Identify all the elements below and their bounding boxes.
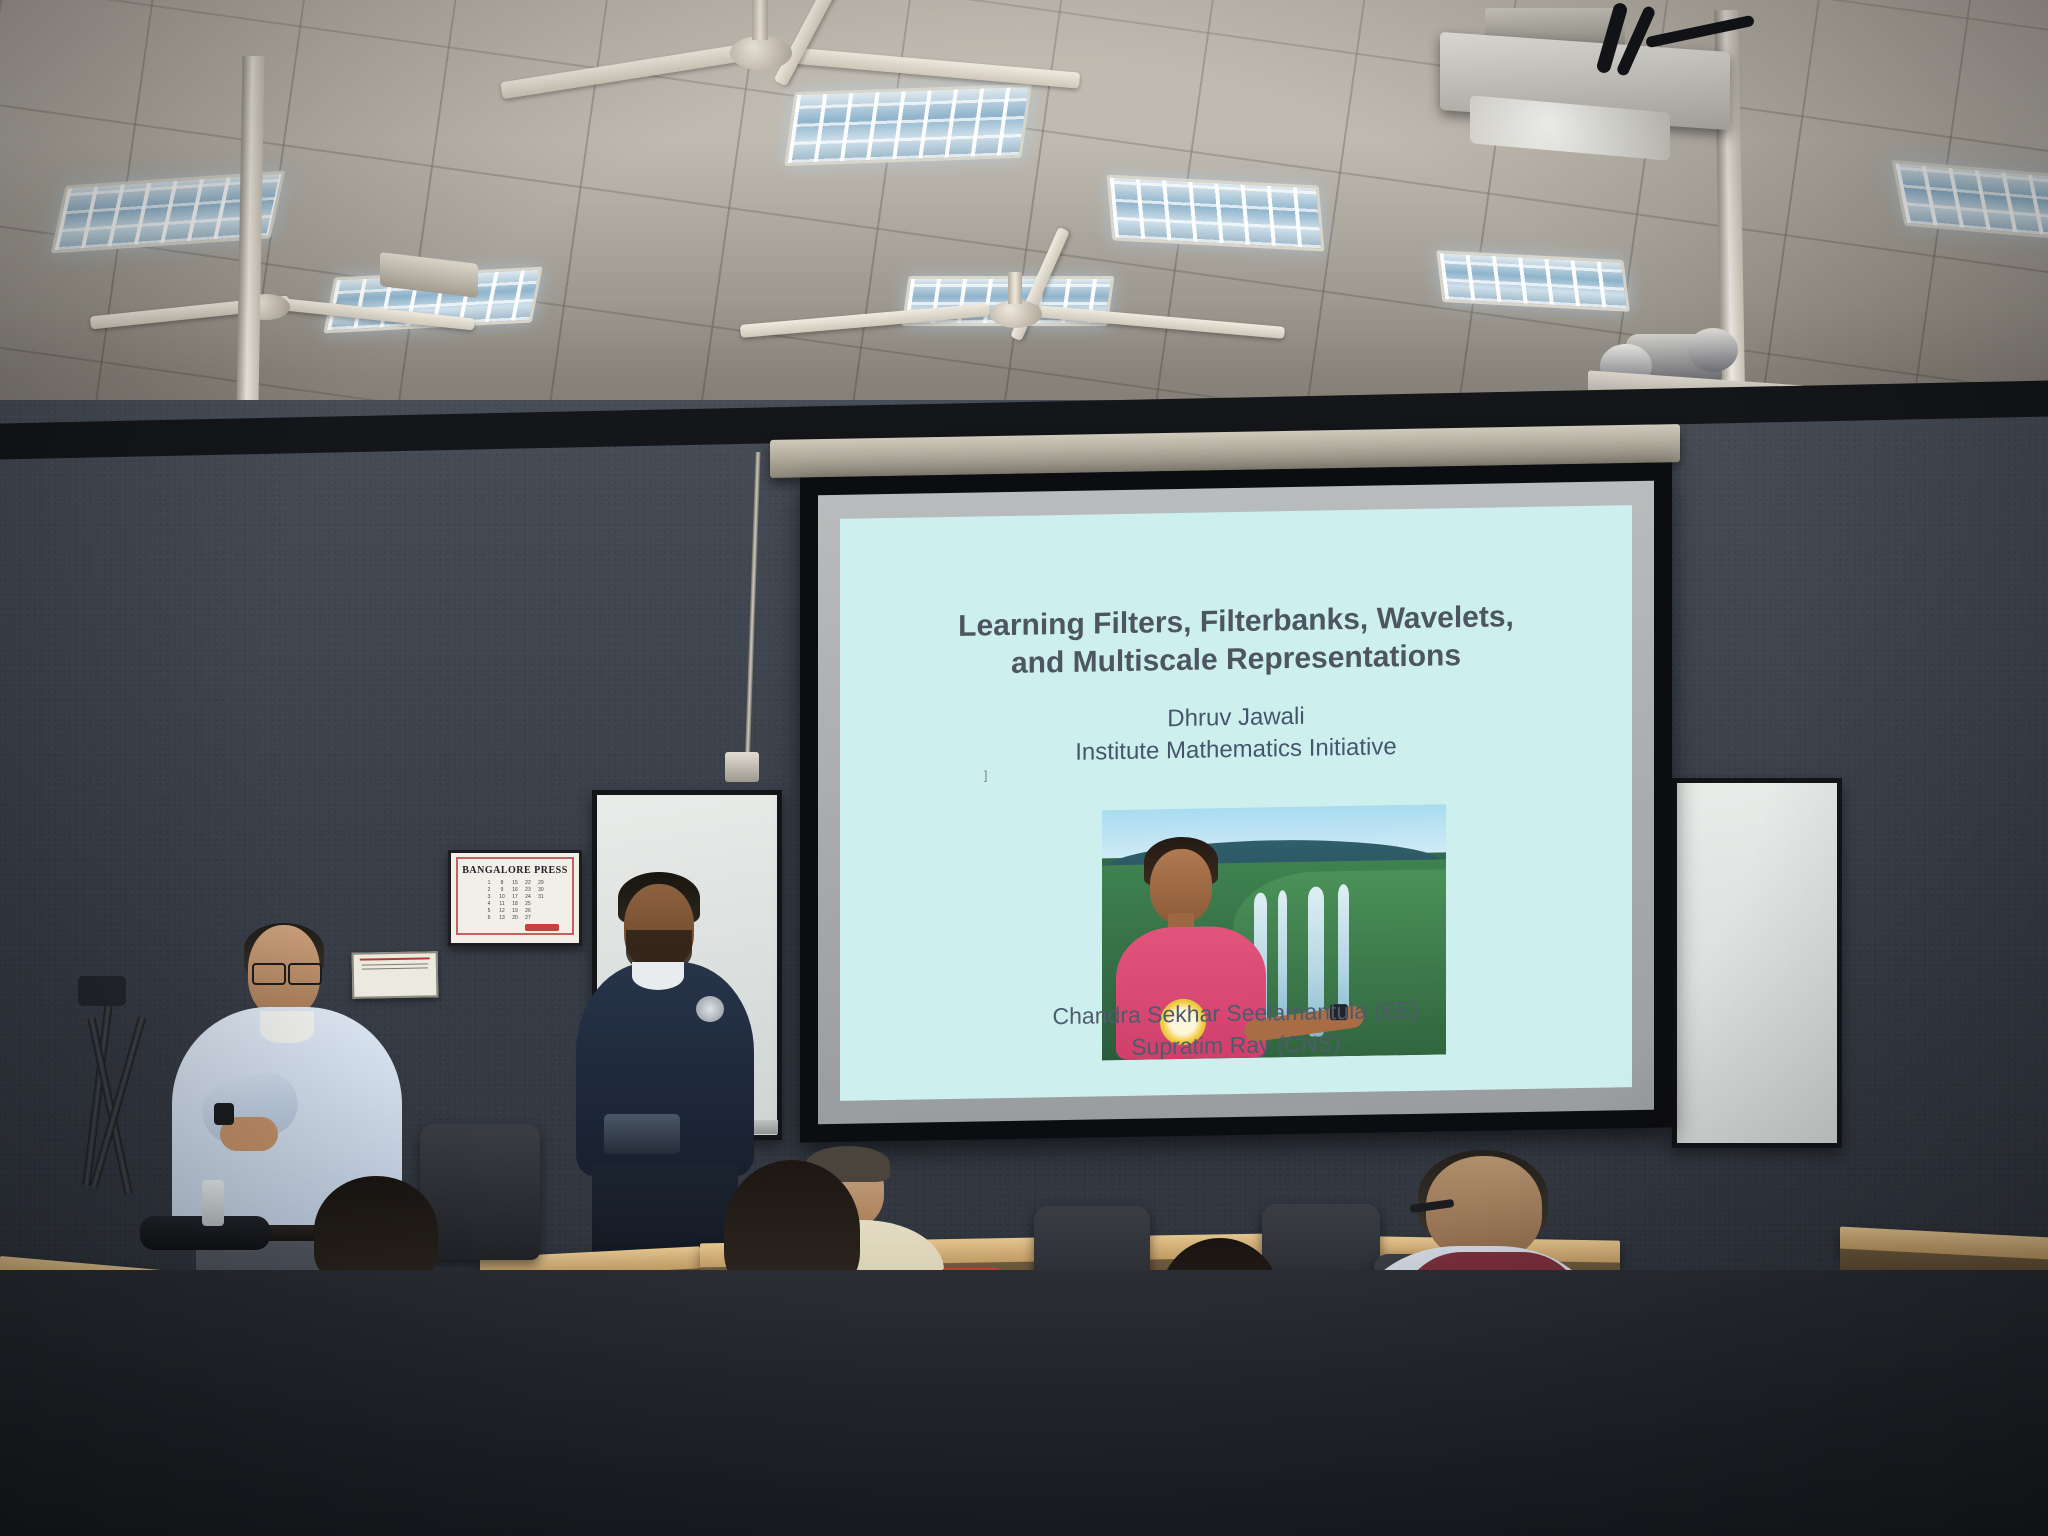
projection-screen-mat: Learning Filters, Filterbanks, Wavelets,… [818,481,1654,1125]
troffer-5 [1106,175,1324,252]
lecture-hall-photo: BANGALORE PRESS 18152229 29162330 310172… [0,0,2048,1536]
whiteboard-right [1672,778,1842,1148]
screen-cable-clamp [725,752,759,782]
presenter-main-glasses-right [288,963,322,985]
presenter-second-waist-pouch [604,1114,680,1154]
presenter-main-glasses [252,963,286,985]
calendar-title: BANGALORE PRESS [462,865,568,876]
troffer-6 [1436,250,1630,312]
calendar-footer-accent [525,924,559,931]
presenter-second-collar [632,962,684,990]
projector-cable-3 [1645,15,1755,49]
projection-screen-frame: Learning Filters, Filterbanks, Wavelets,… [800,462,1672,1142]
calendar-grid: 18152229 29162330 310172431 4111825 5121… [483,880,547,921]
wall-calendar-poster: BANGALORE PRESS 18152229 29162330 310172… [448,850,582,946]
tripod-head [78,976,126,1006]
presenter-main-undershirt [260,1011,314,1043]
presentation-clicker[interactable] [214,1103,234,1125]
floor [0,1270,2048,1536]
water-bottle [202,1180,224,1226]
presenter-second-logo [696,996,724,1022]
slide-bullet-marker: ] [984,768,987,782]
ceiling-fan-center [620,0,1100,110]
ceiling-projector [1430,8,1760,158]
presentation-slide[interactable]: Learning Filters, Filterbanks, Wavelets,… [840,505,1632,1101]
camera-housing [1688,328,1738,372]
ceiling-fan-right [860,272,1280,362]
